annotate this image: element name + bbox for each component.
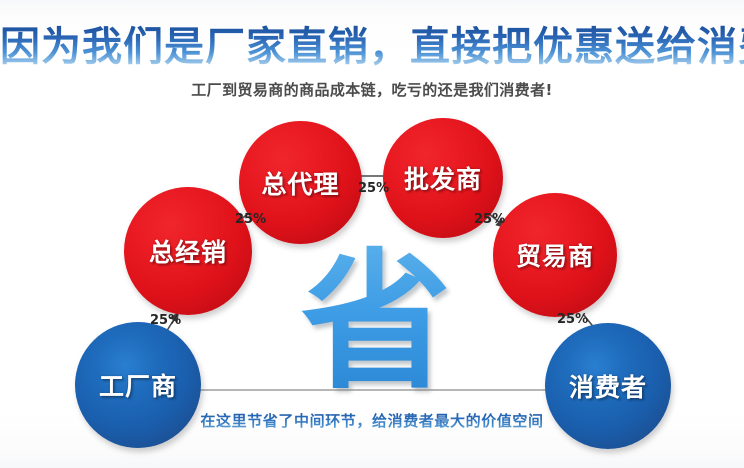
markup-label-2: 25% [235, 212, 266, 227]
node-general-agent-label: 总代理 [261, 165, 339, 201]
node-wholesaler-label: 批发商 [404, 160, 482, 196]
node-general-distributor: 总经销 [124, 187, 252, 315]
markup-label-5: 25% [557, 312, 588, 327]
node-trader-label: 贸易商 [516, 237, 594, 273]
markup-label-1: 25% [150, 313, 181, 328]
node-factory-label: 工厂商 [99, 367, 177, 403]
node-trader: 贸易商 [493, 193, 617, 317]
markup-label-3: 25% [358, 181, 389, 196]
promo-banner: 因为我们是厂家直销，直接把优惠送给消费者 因为我们是厂家直销，直接把优惠送给消费… [0, 0, 744, 468]
markup-label-4: 25% [474, 212, 505, 227]
bottom-caption: 在这里节省了中间环节，给消费者最大的价值空间 [0, 410, 744, 431]
node-consumer-label: 消费者 [569, 368, 647, 404]
node-general-distributor-label: 总经销 [149, 233, 227, 269]
